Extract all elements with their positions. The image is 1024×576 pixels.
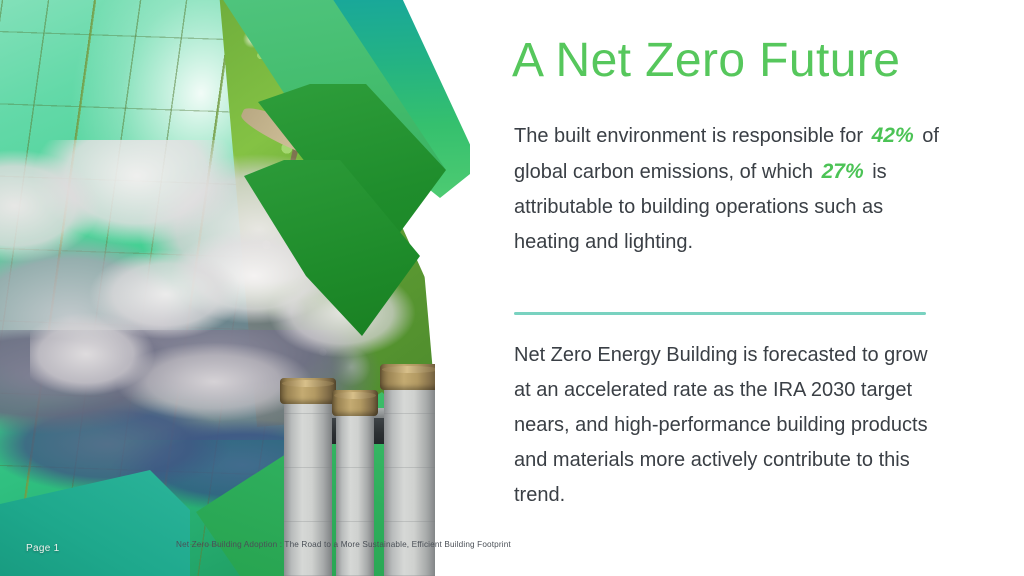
stat-highlight-27: 27% [819, 160, 867, 183]
content-column: A Net Zero Future The built environment … [512, 0, 1024, 576]
page-title: A Net Zero Future [512, 36, 900, 87]
section-divider [514, 312, 926, 315]
paragraph-one-part-1: The built environment is responsible for [514, 125, 869, 147]
hero-visual: Page 1 [0, 0, 470, 576]
stat-highlight-42: 42% [869, 124, 917, 147]
smokestack-cap [332, 390, 378, 416]
smokestack-cap [280, 378, 336, 404]
paragraph-forecast: Net Zero Energy Building is forecasted t… [514, 338, 932, 513]
footnote: Net Zero Building Adoption : The Road to… [176, 540, 511, 549]
paragraph-statistics: The built environment is responsible for… [514, 118, 942, 260]
page-label: Page 1 [26, 543, 60, 554]
slide-canvas: Page 1 A Net Zero Future The built envir… [0, 0, 1024, 576]
smokestack-cap [380, 364, 440, 390]
